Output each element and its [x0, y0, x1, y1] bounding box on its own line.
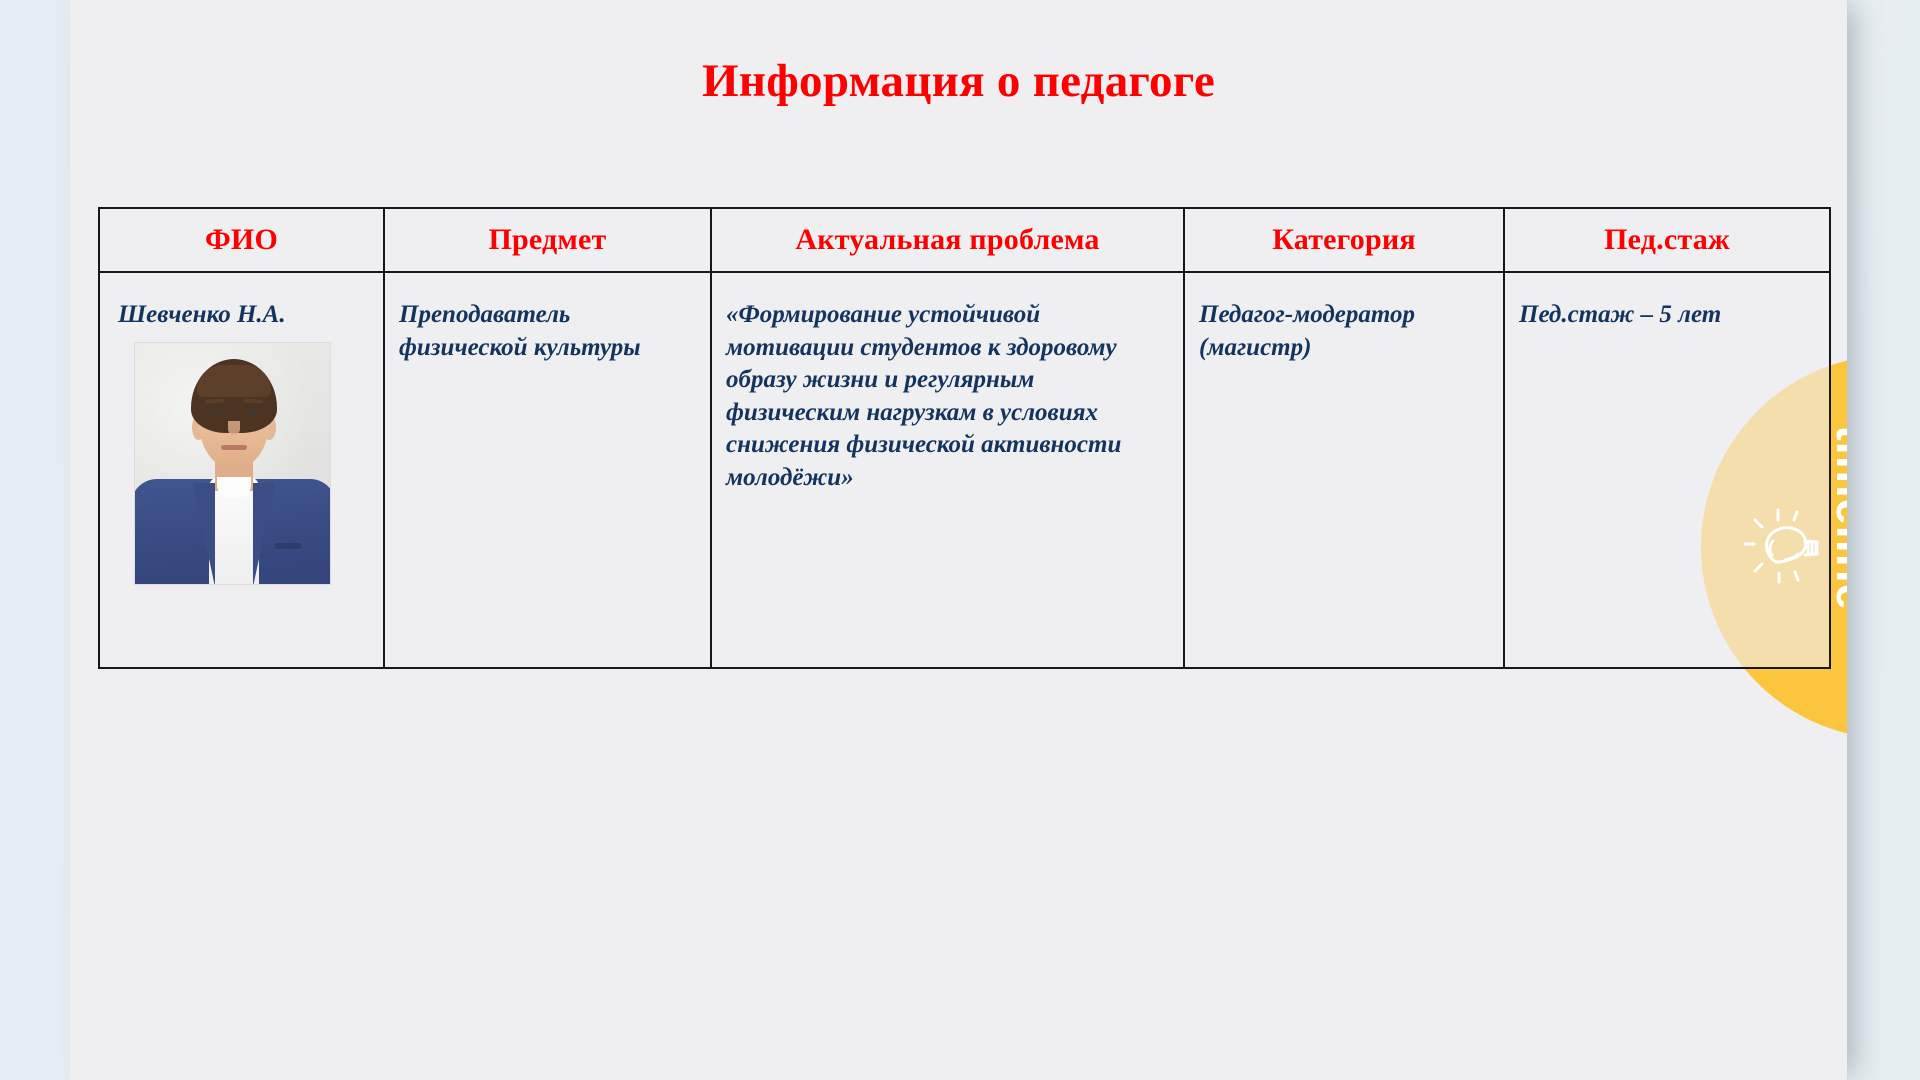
table-header-row: ФИО Предмет Актуальная проблема Категори… — [99, 208, 1830, 272]
subject-text: Преподаватель физической культуры — [385, 273, 710, 374]
category-text: Педагог-модератор (магистр) — [1185, 273, 1503, 374]
column-header-experience: Пед.стаж — [1504, 208, 1830, 272]
teacher-info-table-wrapper: ФИО Предмет Актуальная проблема Категори… — [98, 207, 1829, 669]
cell-subject: Преподаватель физической культуры — [384, 272, 711, 668]
column-header-subject: Предмет — [384, 208, 711, 272]
cell-category: Педагог-модератор (магистр) — [1184, 272, 1504, 668]
table-row: Шевченко Н.А. — [99, 272, 1830, 668]
column-header-problem: Актуальная проблема — [711, 208, 1184, 272]
column-header-category: Категория — [1184, 208, 1504, 272]
teacher-name: Шевченко Н.А. — [118, 299, 369, 332]
cell-problem: «Формирование устойчивой мотивации студе… — [711, 272, 1184, 668]
problem-text: «Формирование устойчивой мотивации студе… — [712, 273, 1183, 504]
presentation-slide: timeline Информация о педагоге ФИО Предм… — [70, 0, 1847, 1080]
page-title: Информация о педагоге — [70, 54, 1847, 108]
teacher-info-table: ФИО Предмет Актуальная проблема Категори… — [98, 207, 1831, 669]
experience-text: Пед.стаж – 5 лет — [1505, 273, 1829, 342]
teacher-photo — [134, 342, 331, 585]
cell-experience: Пед.стаж – 5 лет — [1504, 272, 1830, 668]
screen-canvas: timeline Информация о педагоге ФИО Предм… — [0, 0, 1920, 1080]
column-header-fio: ФИО — [99, 208, 384, 272]
lightbulb-icon — [1742, 500, 1838, 596]
cell-fio: Шевченко Н.А. — [99, 272, 384, 668]
